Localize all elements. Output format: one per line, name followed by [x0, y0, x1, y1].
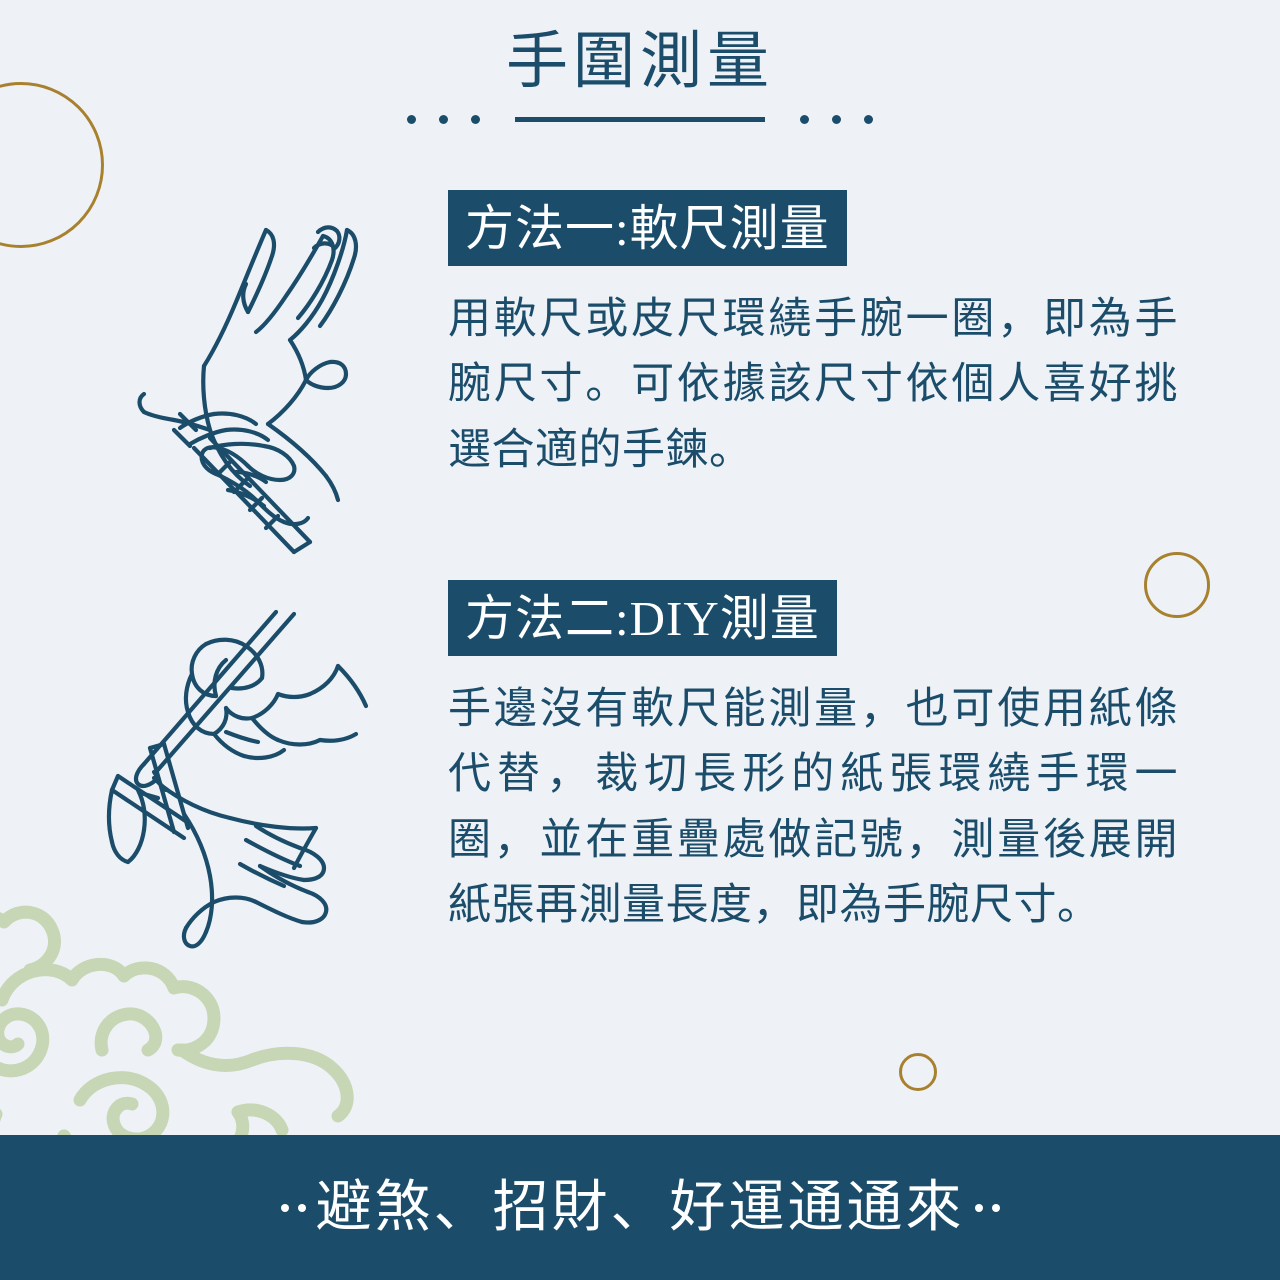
- footer-dot: [992, 1204, 1000, 1212]
- footer-tagline: 避煞、招財、好運通通來: [316, 1180, 965, 1236]
- footer-dot: [281, 1204, 289, 1212]
- method-section-1: 方法一:軟尺測量 用軟尺或皮尺環繞手腕一圈，即為手腕尺寸。可依據該尺寸依個人喜好…: [0, 190, 1280, 560]
- footer-bar: 避煞、招財、好運通通來: [0, 1135, 1280, 1280]
- infographic-poster: 手圍測量: [0, 0, 1280, 1280]
- divider-dot: [864, 115, 873, 124]
- page-title: 手圍測量: [0, 30, 1280, 95]
- divider-dot: [407, 115, 416, 124]
- method-1-text: 用軟尺或皮尺環繞手腕一圈，即為手腕尺寸。可依據該尺寸依個人喜好挑選合適的手鍊。: [448, 287, 1178, 483]
- footer-inner: 避煞、招財、好運通通來: [281, 1180, 1000, 1236]
- divider-dot: [832, 115, 841, 124]
- footer-left-dots: [281, 1204, 306, 1212]
- divider-dot: [800, 115, 809, 124]
- divider-dot: [471, 115, 480, 124]
- footer-dot: [975, 1204, 983, 1212]
- method-1-body: 方法一:軟尺測量 用軟尺或皮尺環繞手腕一圈，即為手腕尺寸。可依據該尺寸依個人喜好…: [448, 190, 1178, 483]
- hands-with-measuring-tape-illustration: [118, 200, 403, 560]
- method-1-banner: 方法一:軟尺測量: [448, 190, 847, 266]
- header: 手圍測量: [0, 30, 1280, 124]
- hand-marking-paper-strip-illustration: [88, 600, 388, 970]
- method-2-body: 方法二:DIY測量 手邊沒有軟尺能測量，也可使用紙條代替，裁切長形的紙張環繞手環…: [448, 580, 1178, 938]
- title-divider: [0, 115, 1280, 124]
- footer-right-dots: [975, 1204, 1000, 1212]
- method-2-text: 手邊沒有軟尺能測量，也可使用紙條代替，裁切長形的紙張環繞手環一圈，並在重疊處做記…: [448, 677, 1178, 938]
- footer-dot: [298, 1204, 306, 1212]
- method-section-2: 方法二:DIY測量 手邊沒有軟尺能測量，也可使用紙條代替，裁切長形的紙張環繞手環…: [0, 580, 1280, 1100]
- divider-line: [515, 117, 765, 122]
- divider-dot: [439, 115, 448, 124]
- method-2-banner: 方法二:DIY測量: [448, 580, 837, 656]
